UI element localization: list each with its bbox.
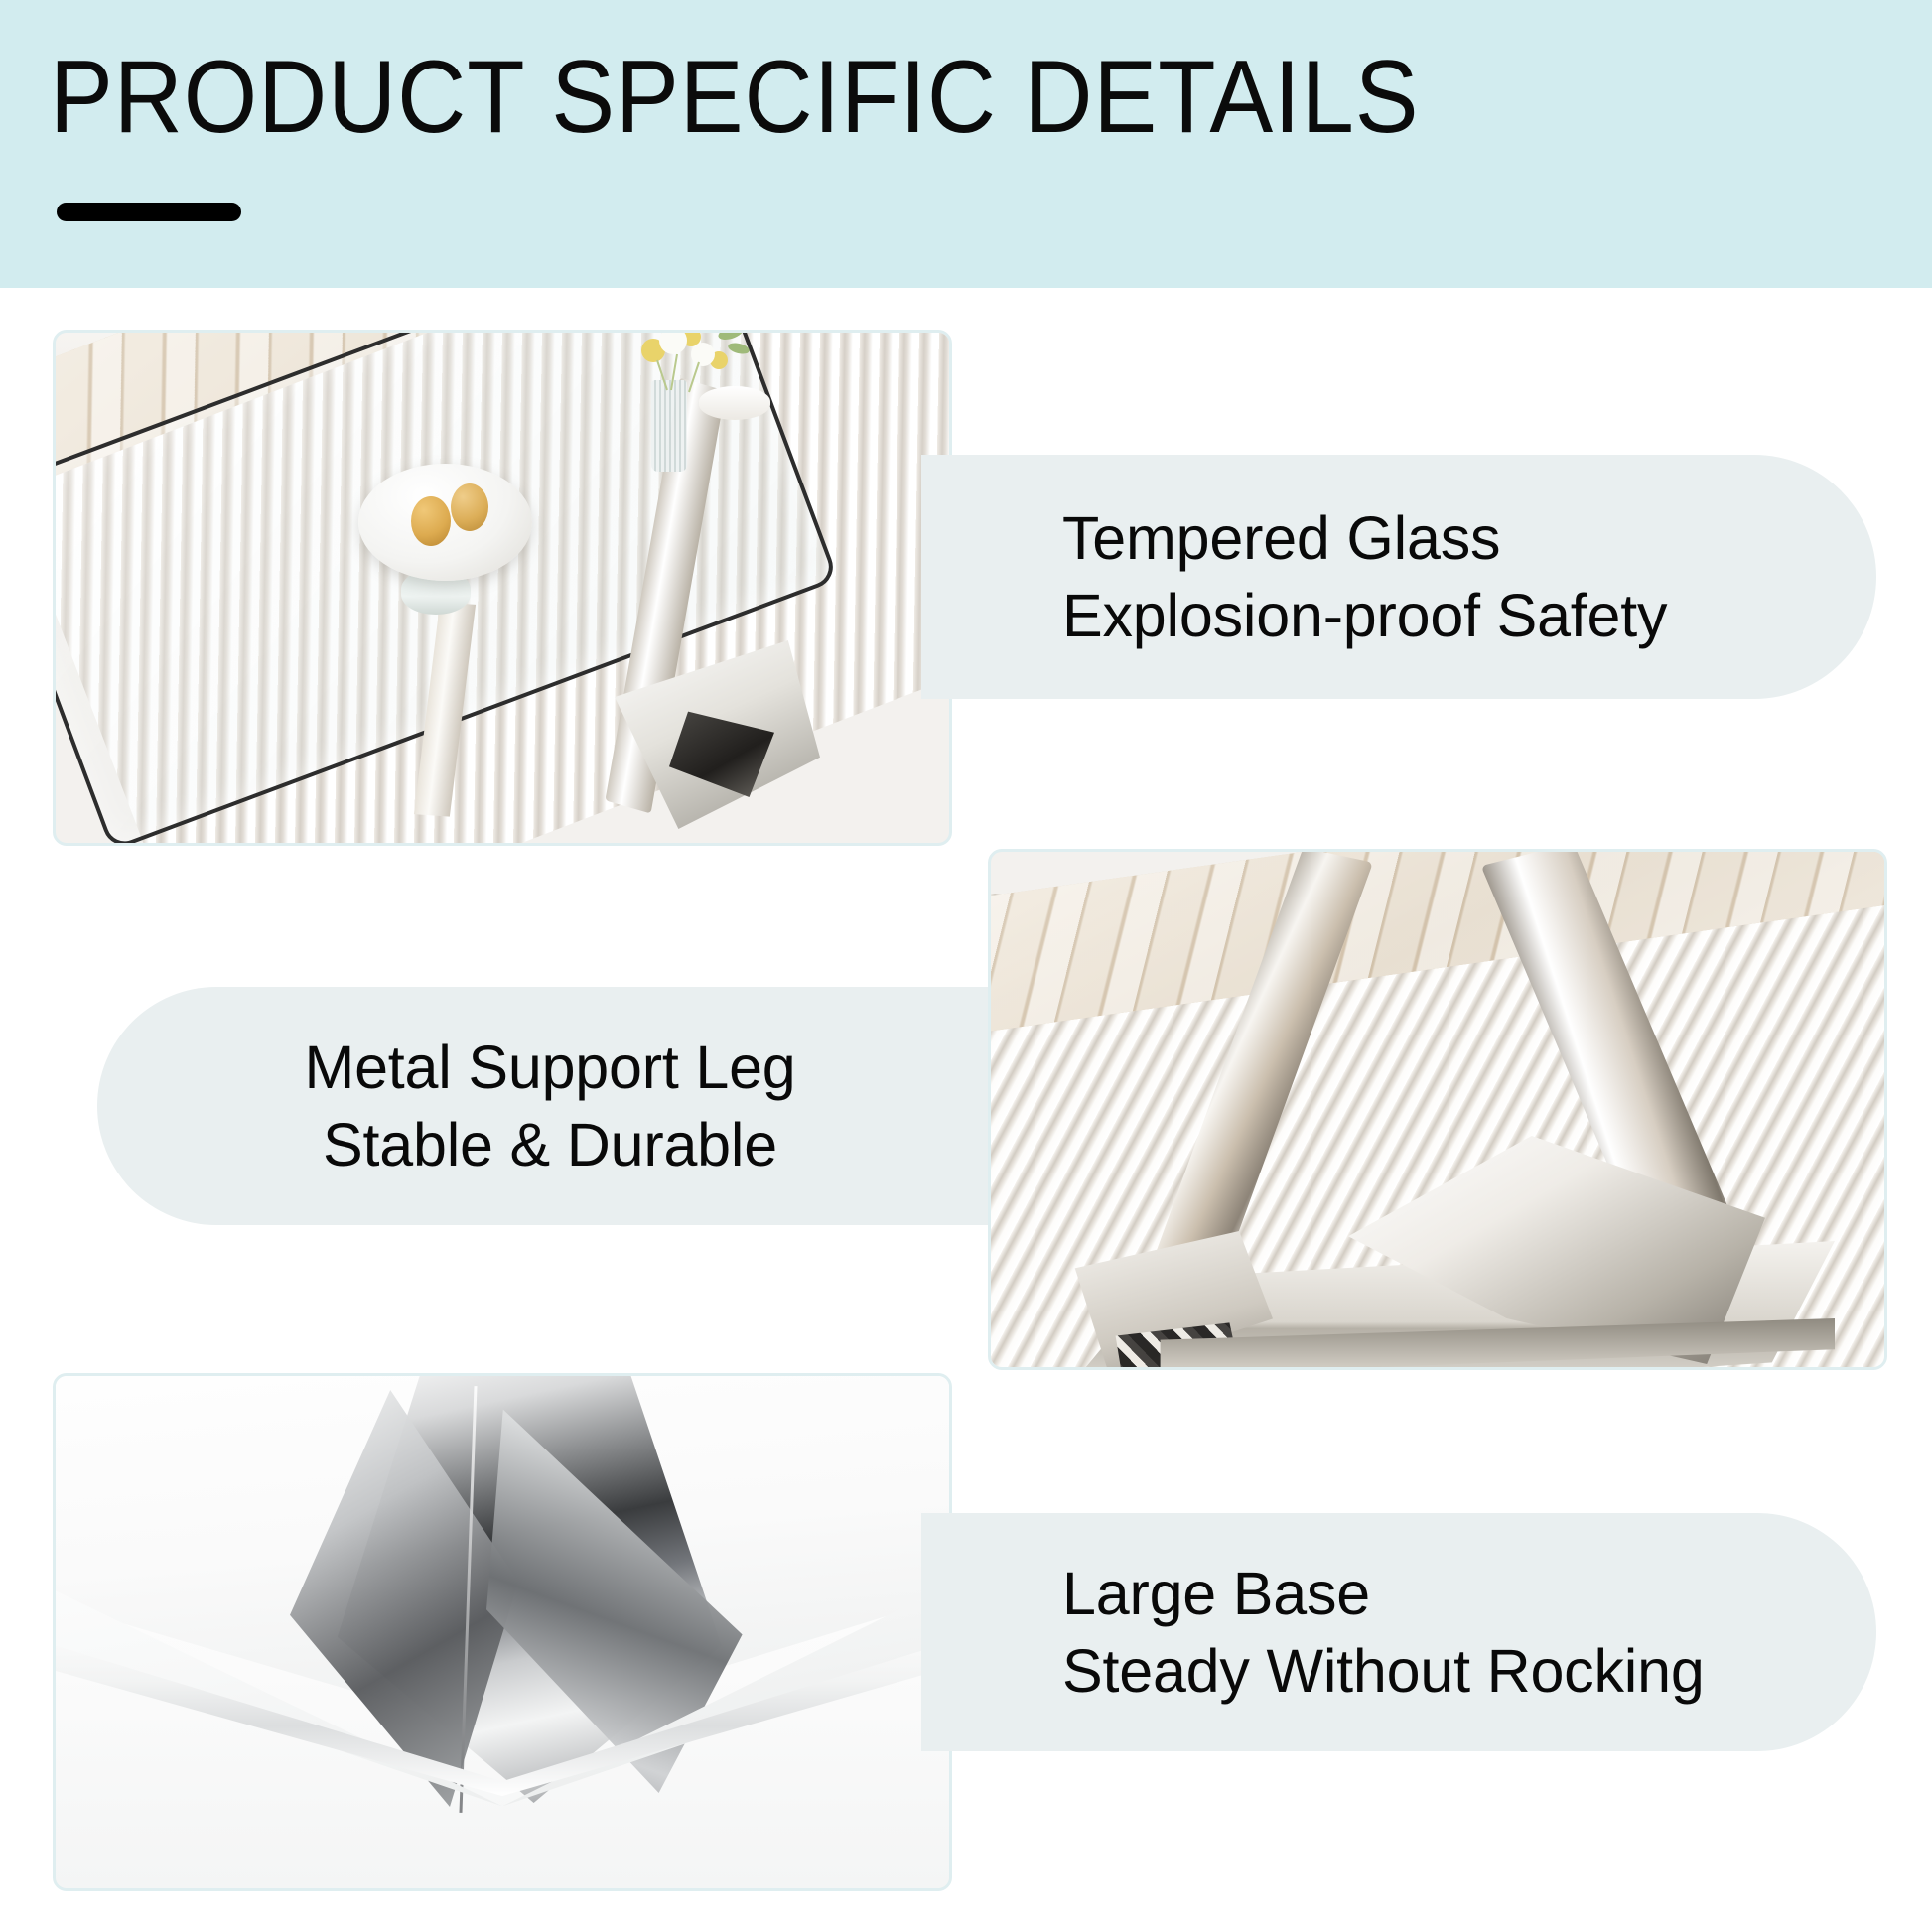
scene-base-corner [56, 1376, 949, 1888]
caption-line-2: Steady Without Rocking [1062, 1632, 1876, 1710]
scene-glass-tabletop [56, 333, 949, 843]
caption-line-2: Stable & Durable [323, 1106, 777, 1183]
feature-image-metal-support-leg[interactable] [988, 849, 1887, 1370]
feature-image-large-base[interactable] [53, 1373, 952, 1891]
wooden-ball-2 [451, 483, 488, 531]
title-underline-accent [57, 203, 241, 221]
wooden-ball-1 [411, 496, 451, 546]
scene-metal-legs [991, 852, 1884, 1367]
flower-bouquet-icon [608, 330, 757, 396]
feature-caption-metal-support-leg: Metal Support Leg Stable & Durable [97, 987, 1003, 1225]
caption-line-1: Tempered Glass [1062, 499, 1876, 577]
feature-caption-large-base: Large Base Steady Without Rocking [921, 1513, 1876, 1751]
page-title: PRODUCT SPECIFIC DETAILS [50, 46, 1420, 149]
caption-line-1: Metal Support Leg [304, 1029, 795, 1106]
caption-line-1: Large Base [1062, 1555, 1876, 1632]
page-header-band: PRODUCT SPECIFIC DETAILS [0, 0, 1932, 288]
caption-line-2: Explosion-proof Safety [1062, 577, 1876, 654]
feature-caption-tempered-glass: Tempered Glass Explosion-proof Safety [921, 455, 1876, 699]
feature-image-tempered-glass[interactable] [53, 330, 952, 846]
